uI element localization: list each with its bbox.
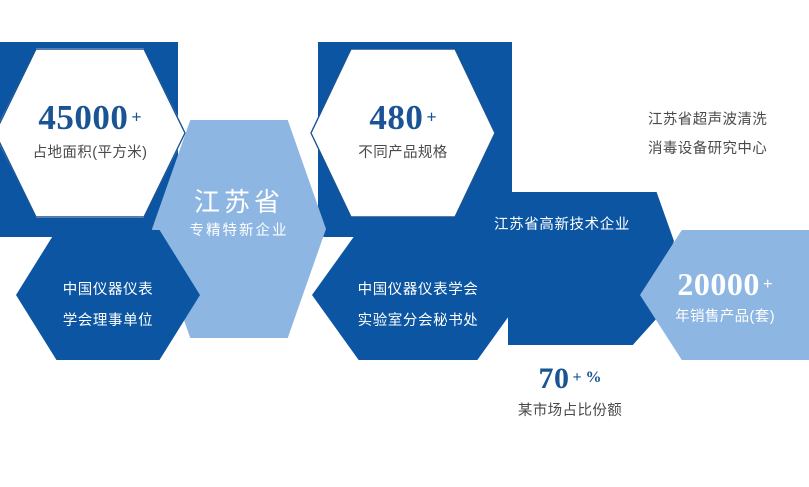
stat-land-area-text: 45000+ 占地面积(平方米) xyxy=(0,100,186,162)
stat-product-specs-caption: 不同产品规格 xyxy=(310,145,496,162)
stat-market-share-caption: 某市场占比份额 xyxy=(480,403,660,420)
stat-product-specs-text: 480+ 不同产品规格 xyxy=(310,100,496,162)
side-note-research-center: 江苏省超声波清洗 消毒设备研究中心 xyxy=(648,106,809,164)
stat-land-area-value: 45000 xyxy=(38,98,128,137)
stat-product-specs-suffix: + xyxy=(426,107,436,127)
badge-cis-council-member-text: 中国仪器仪表 学会理事单位 xyxy=(16,275,200,337)
stat-annual-sales-caption: 年销售产品(套) xyxy=(640,309,809,326)
stat-annual-sales-value: 20000 xyxy=(677,266,760,302)
badge-cis-lab-secretariat-line2: 实验室分会秘书处 xyxy=(312,306,524,337)
stat-land-area-suffix: + xyxy=(131,107,141,127)
stat-annual-sales-suffix: + xyxy=(763,274,773,293)
stat-product-specs-value: 480 xyxy=(369,98,423,137)
stat-market-share-text: 70+ % 某市场占比份额 xyxy=(480,364,660,420)
side-note-line1: 江苏省超声波清洗 xyxy=(648,106,809,135)
stat-market-share-suffix: + % xyxy=(572,369,601,386)
infographic-canvas: 江苏省 专精特新企业 江苏省高新技术企业 45000+ 占地面积(平方米) 48… xyxy=(0,0,809,487)
badge-cis-council-member-line1: 中国仪器仪表 xyxy=(16,275,200,306)
badge-cis-lab-secretariat-line1: 中国仪器仪表学会 xyxy=(312,275,524,306)
badge-cis-council-member-line2: 学会理事单位 xyxy=(16,306,200,337)
stat-market-share-value: 70 xyxy=(538,362,569,395)
badge-jiangsu-sme-line2: 专精特新企业 xyxy=(152,219,326,243)
badge-cis-lab-secretariat-text: 中国仪器仪表学会 实验室分会秘书处 xyxy=(312,275,524,337)
stat-annual-sales-text: 20000+ 年销售产品(套) xyxy=(640,268,809,326)
side-note-line2: 消毒设备研究中心 xyxy=(648,135,809,164)
stat-land-area-caption: 占地面积(平方米) xyxy=(0,145,186,162)
